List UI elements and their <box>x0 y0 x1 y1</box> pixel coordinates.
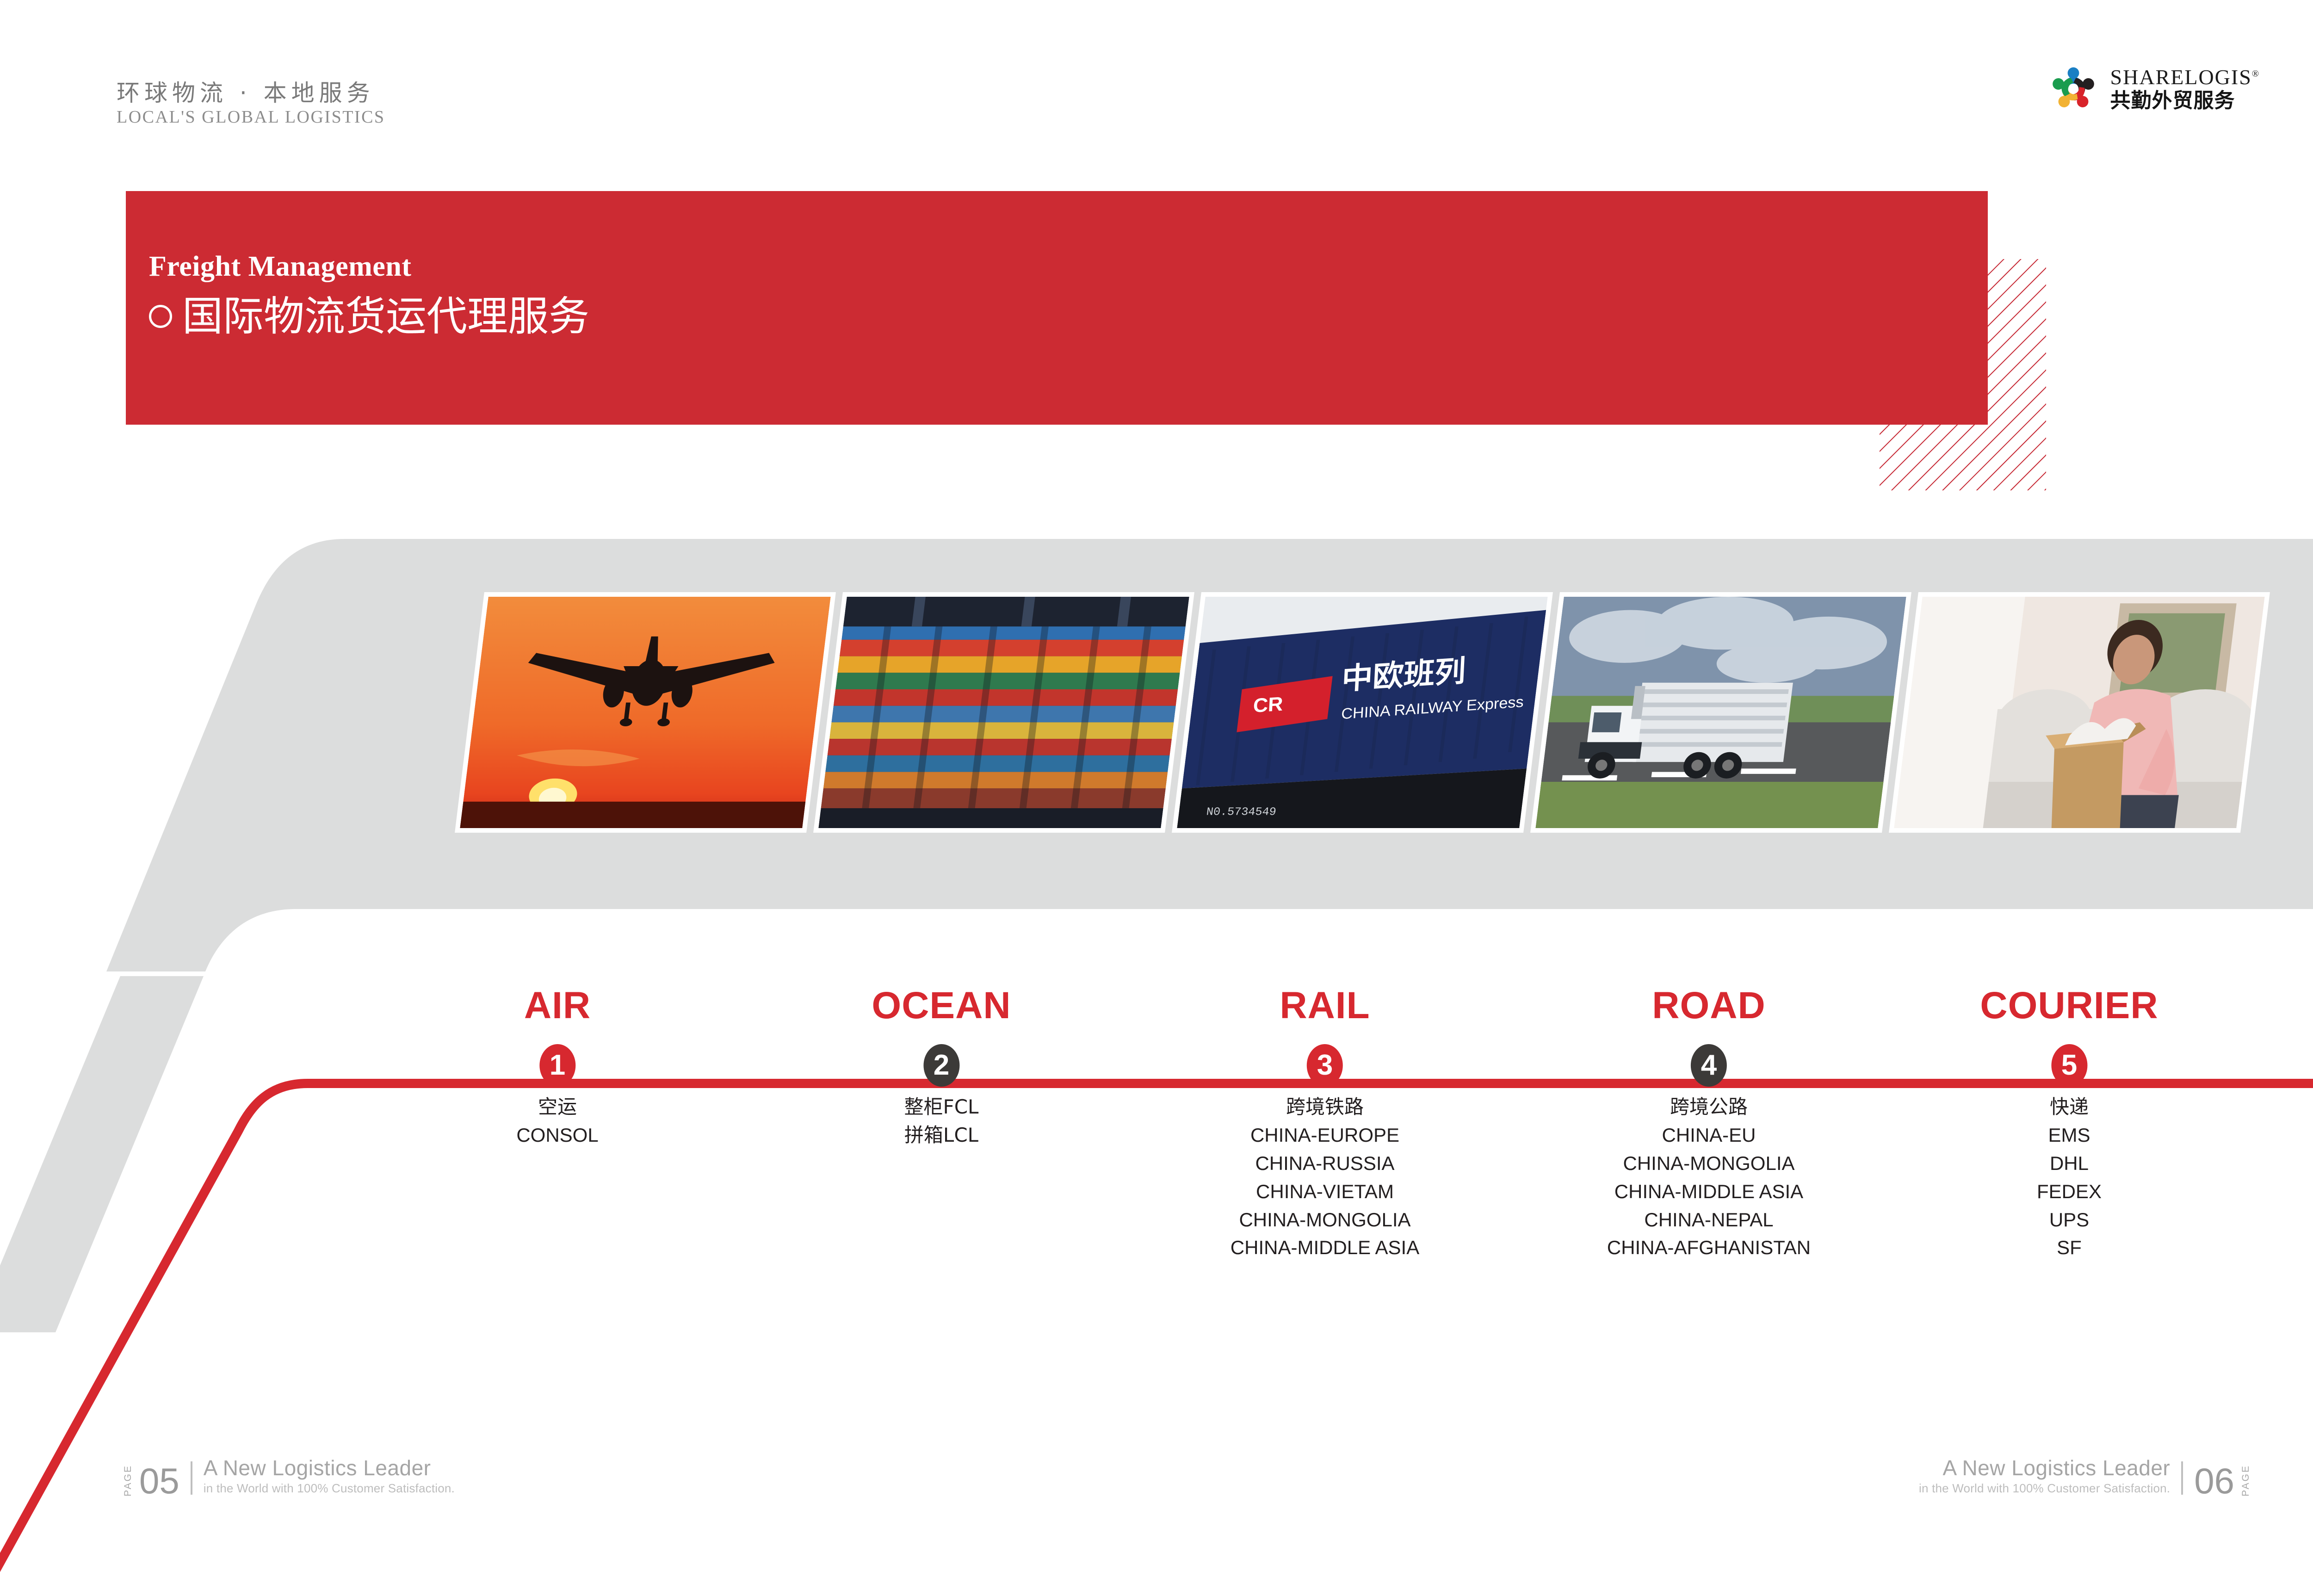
list-item: CHINA-AFGHANISTAN <box>1607 1234 1811 1262</box>
column-title-courier: COURIER <box>1980 987 2158 1025</box>
step-marker-5[interactable]: 5 <box>2051 1044 2087 1087</box>
timeline-column-ocean[interactable]: OCEAN 2 整柜FCL 拼箱LCL <box>872 987 1011 1150</box>
page-number-right: 06 <box>2194 1465 2234 1497</box>
list-item: CHINA-VIETAM <box>1231 1178 1419 1206</box>
slide-root: 环球物流 · 本地服务 LOCAL'S GLOBAL LOGISTICS <box>0 0 2313 1596</box>
list-item: 跨境铁路 <box>1231 1093 1419 1121</box>
column-title-road: ROAD <box>1607 987 1811 1025</box>
step-marker-1[interactable]: 1 <box>539 1044 575 1087</box>
timeline-column-courier[interactable]: COURIER 5 快递 EMS DHL FEDEX UPS SF <box>1980 987 2158 1262</box>
footer-right: A New Logistics Leader in the World with… <box>1919 1456 2251 1497</box>
footer-left: PAGE 05 A New Logistics Leader in the Wo… <box>123 1456 455 1497</box>
timeline-column-rail[interactable]: RAIL 3 跨境铁路 CHINA-EUROPE CHINA-RUSSIA CH… <box>1231 987 1419 1262</box>
column-items-road: 跨境公路 CHINA-EU CHINA-MONGOLIA CHINA-MIDDL… <box>1607 1093 1811 1262</box>
footer-subslogan-right: in the World with 100% Customer Satisfac… <box>1919 1482 2170 1495</box>
column-items-air: 空运 CONSOL <box>516 1093 598 1150</box>
column-items-ocean: 整柜FCL 拼箱LCL <box>872 1093 1011 1150</box>
list-item: 拼箱LCL <box>872 1121 1011 1150</box>
column-items-rail: 跨境铁路 CHINA-EUROPE CHINA-RUSSIA CHINA-VIE… <box>1231 1093 1419 1262</box>
column-title-ocean: OCEAN <box>872 987 1011 1025</box>
list-item: 跨境公路 <box>1607 1093 1811 1121</box>
page-label-left: PAGE <box>123 1463 133 1497</box>
page-number-left: 05 <box>139 1465 179 1497</box>
column-title-rail: RAIL <box>1231 987 1419 1025</box>
timeline-column-road[interactable]: ROAD 4 跨境公路 CHINA-EU CHINA-MONGOLIA CHIN… <box>1607 987 1811 1262</box>
footer-slogan-right: A New Logistics Leader <box>1943 1456 2171 1480</box>
service-timeline: AIR 1 空运 CONSOL OCEAN 2 整柜FCL 拼箱LCL RAIL… <box>0 0 2313 1596</box>
list-item: FEDEX <box>1980 1178 2158 1206</box>
list-item: CHINA-MONGOLIA <box>1231 1206 1419 1234</box>
list-item: DHL <box>1980 1150 2158 1178</box>
footer-subslogan-left: in the World with 100% Customer Satisfac… <box>204 1482 455 1495</box>
footer-slogan-left: A New Logistics Leader <box>204 1456 455 1480</box>
step-marker-4[interactable]: 4 <box>1691 1044 1727 1087</box>
page-label-right: PAGE <box>2241 1463 2251 1497</box>
list-item: CHINA-MONGOLIA <box>1607 1150 1811 1178</box>
list-item: CHINA-EUROPE <box>1231 1121 1419 1150</box>
list-item: UPS <box>1980 1206 2158 1234</box>
column-title-air: AIR <box>516 987 598 1025</box>
column-items-courier: 快递 EMS DHL FEDEX UPS SF <box>1980 1093 2158 1262</box>
list-item: 整柜FCL <box>872 1093 1011 1121</box>
list-item: CONSOL <box>516 1121 598 1150</box>
list-item: CHINA-NEPAL <box>1607 1206 1811 1234</box>
footer-divider-right <box>2181 1461 2183 1495</box>
list-item: 快递 <box>1980 1093 2158 1121</box>
step-marker-2[interactable]: 2 <box>923 1044 959 1087</box>
step-marker-3[interactable]: 3 <box>1307 1044 1343 1087</box>
timeline-column-air[interactable]: AIR 1 空运 CONSOL <box>516 987 598 1150</box>
list-item: SF <box>1980 1234 2158 1262</box>
list-item: CHINA-MIDDLE ASIA <box>1231 1234 1419 1262</box>
list-item: CHINA-MIDDLE ASIA <box>1607 1178 1811 1206</box>
footer-divider-left <box>191 1461 192 1495</box>
list-item: CHINA-RUSSIA <box>1231 1150 1419 1178</box>
list-item: EMS <box>1980 1121 2158 1150</box>
list-item: 空运 <box>516 1093 598 1121</box>
list-item: CHINA-EU <box>1607 1121 1811 1150</box>
